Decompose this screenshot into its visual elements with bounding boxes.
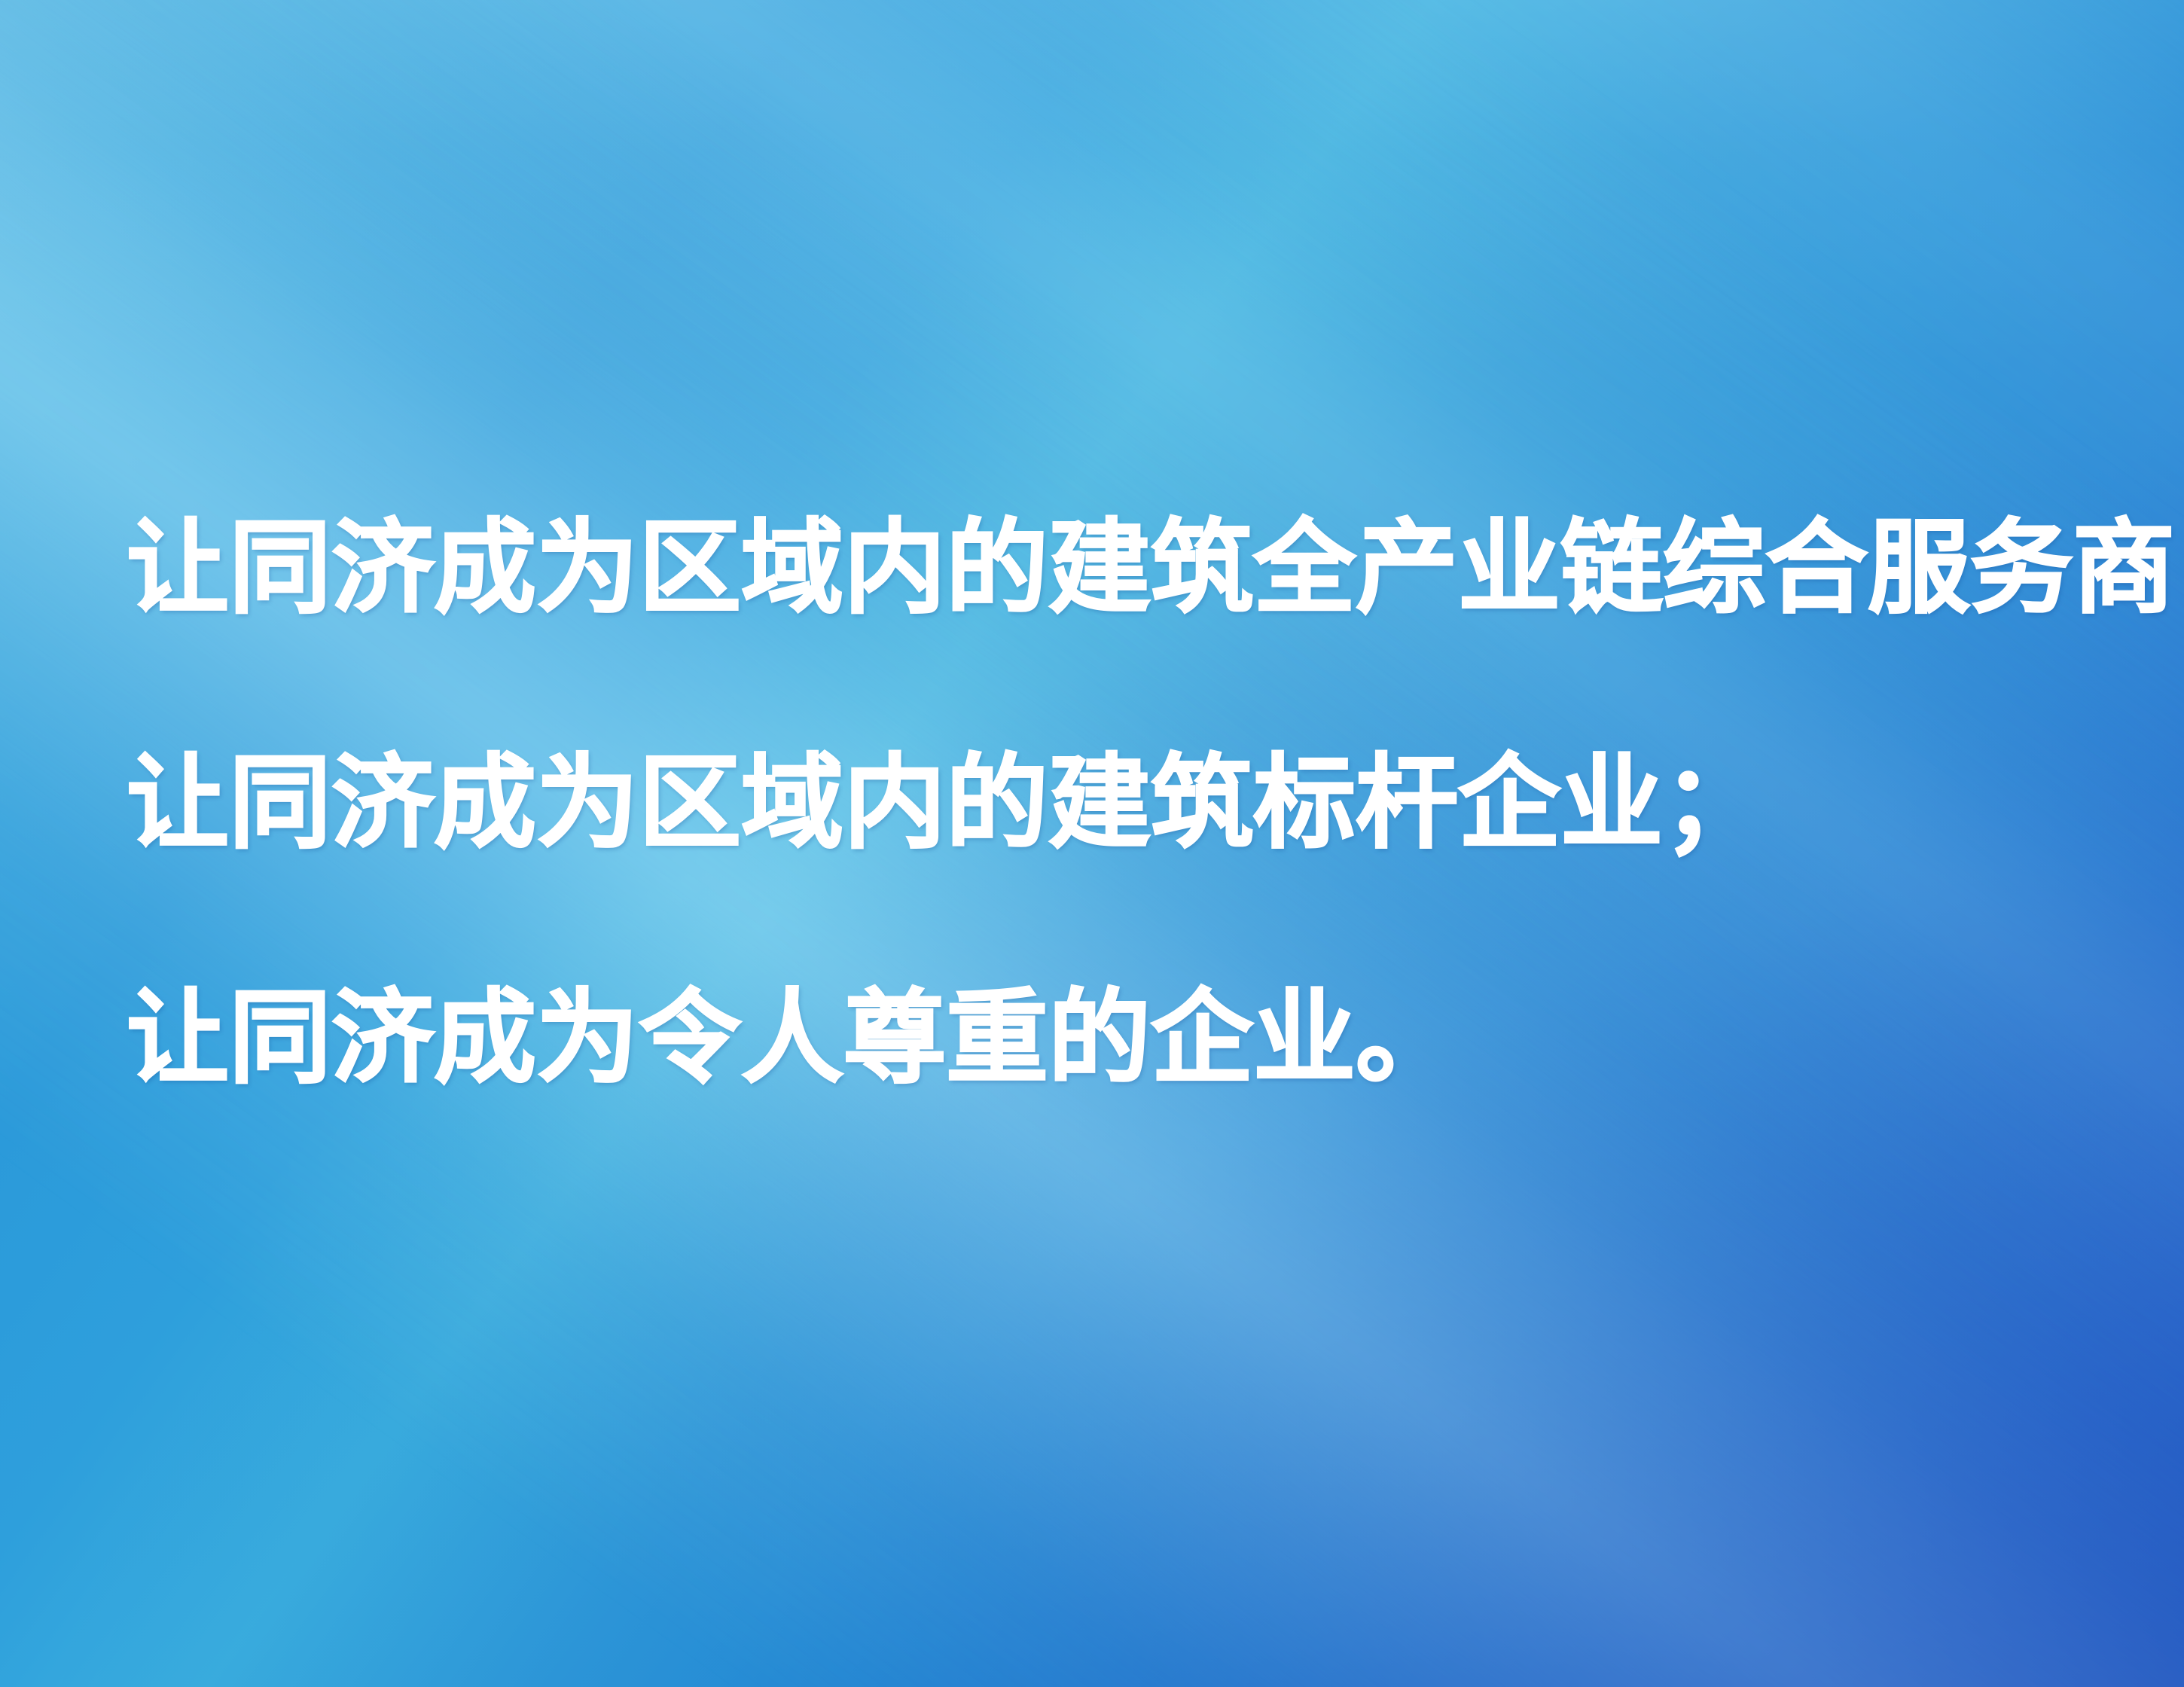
slide-line-1: 让同济成为区域内的建筑全产业链综合服务商； <box>127 452 2085 687</box>
slide-line-2: 让同济成为区域内的建筑标杆企业； <box>127 687 2085 922</box>
slide-canvas: 让同济成为区域内的建筑全产业链综合服务商； 让同济成为区域内的建筑标杆企业； 让… <box>0 0 2184 1687</box>
slide-text-block: 让同济成为区域内的建筑全产业链综合服务商； 让同济成为区域内的建筑标杆企业； 让… <box>127 452 2085 1157</box>
slide-line-3: 让同济成为令人尊重的企业。 <box>127 922 2085 1157</box>
